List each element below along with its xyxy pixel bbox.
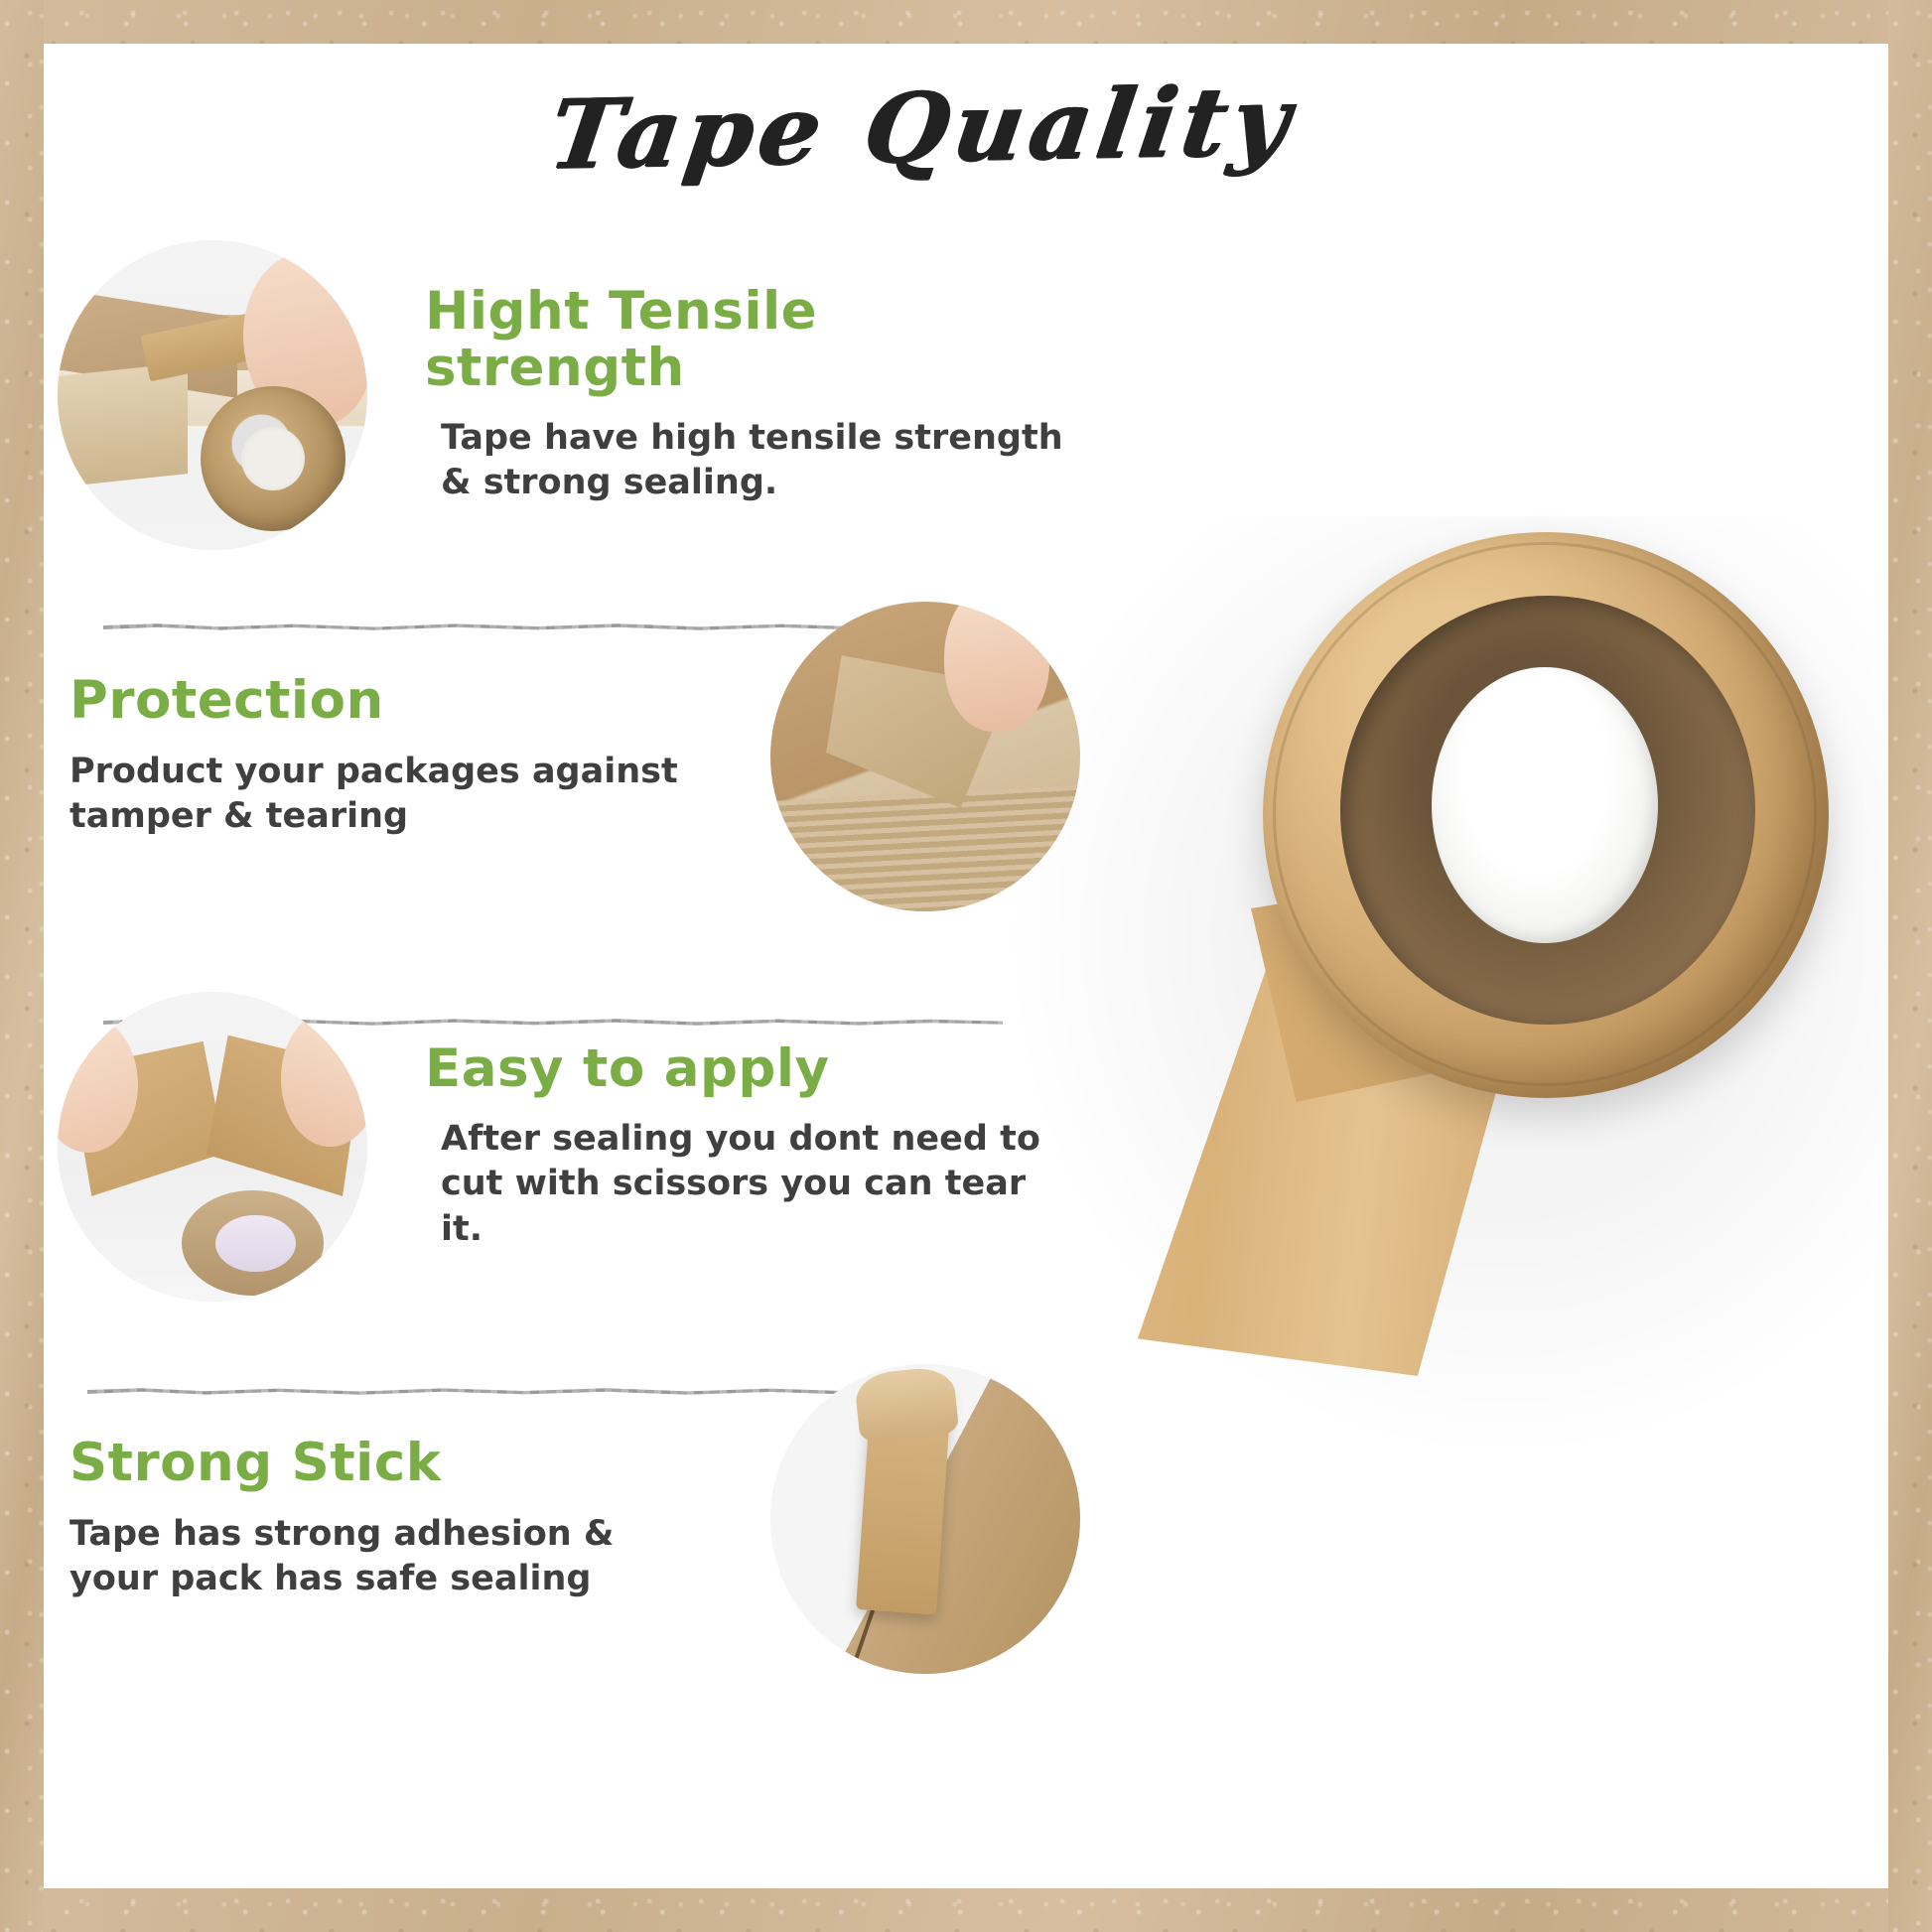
hand-applying-tape-to-box-corner-photo	[58, 240, 367, 550]
page-title-container: Tape Quality	[0, 71, 1845, 184]
feature-heading: Protection	[69, 673, 713, 729]
hand-peeling-cardboard-layer-photo	[770, 602, 1080, 911]
tape-sealing-box-seam-photo	[770, 1364, 1080, 1674]
feature-heading: Hight Tensile strength	[425, 284, 1068, 395]
kraft-border-bottom	[0, 1888, 1932, 1932]
feature-row-strong-stick: Strong Stick Tape has strong adhesion & …	[58, 1370, 1080, 1668]
feature-text-tensile-strength: Hight Tensile strength Tape have high te…	[413, 284, 1080, 505]
feature-text-protection: Protection Product your packages against…	[58, 673, 725, 839]
feature-body: Tape has strong adhesion & your pack has…	[69, 1512, 713, 1602]
hands-tearing-tape-photo	[58, 992, 367, 1302]
feature-body: Product your packages against tamper & t…	[69, 750, 713, 840]
kraft-border-top	[0, 0, 1932, 44]
feature-text-strong-stick: Strong Stick Tape has strong adhesion & …	[58, 1436, 725, 1601]
feature-heading: Easy to apply	[425, 1041, 1068, 1097]
feature-body: After sealing you dont need to cut with …	[441, 1117, 1068, 1253]
feature-text-easy-to-apply: Easy to apply After sealing you dont nee…	[413, 1041, 1080, 1253]
feature-body: Tape have high tensile strength & strong…	[441, 416, 1068, 506]
feature-row-protection: Protection Product your packages against…	[58, 608, 1080, 905]
feature-heading: Strong Stick	[69, 1436, 713, 1491]
page-title: Tape Quality	[543, 65, 1303, 191]
feature-row-easy-to-apply: Easy to apply After sealing you dont nee…	[58, 998, 1080, 1296]
kraft-border-right	[1888, 0, 1932, 1932]
kraft-paper-tape-roll-photo	[1052, 556, 1866, 1410]
feature-row-tensile-strength: Hight Tensile strength Tape have high te…	[58, 246, 1080, 544]
tape-roll-edge-highlight	[1273, 542, 1817, 1086]
kraft-border-left	[0, 0, 44, 1932]
